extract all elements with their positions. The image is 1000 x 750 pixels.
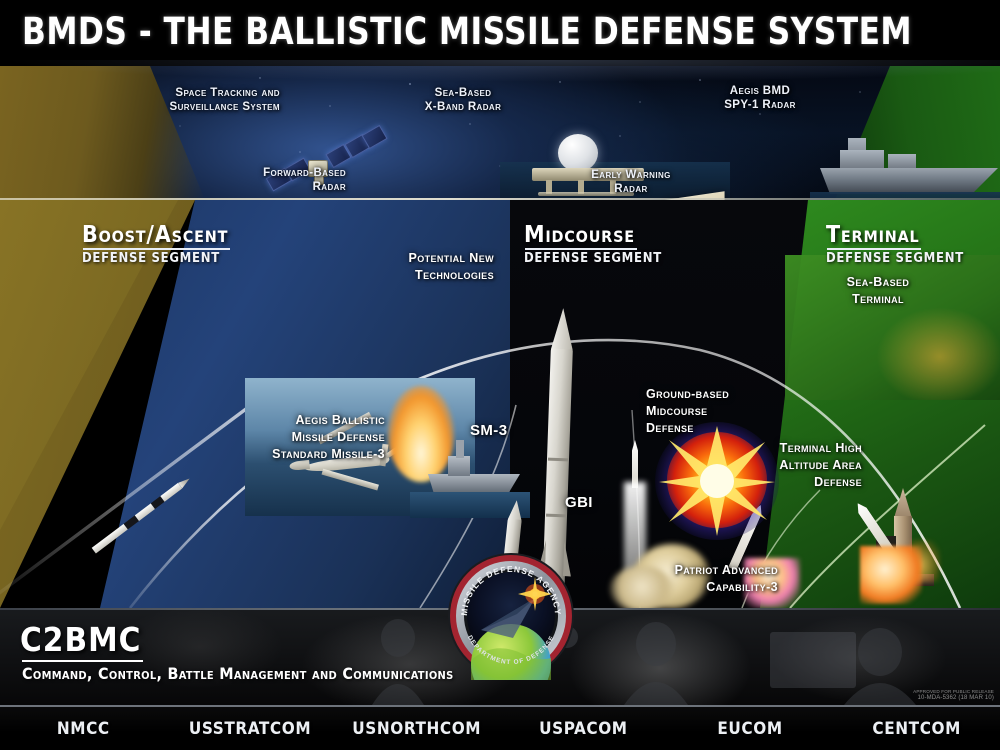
segment-title-boost: Boost/Ascent [82, 222, 228, 248]
command-nmcc[interactable]: NMCC [0, 719, 167, 739]
ship-icon [820, 136, 998, 200]
system-label-sm3: SM-3 [470, 422, 530, 439]
segment-subtitle-midcourse: DEFENSE SEGMENT [524, 251, 662, 266]
sensor-label-ewr: Early Warning Radar [556, 168, 706, 196]
system-label-gbi: GBI [565, 494, 625, 511]
aegis-ship-photo [370, 388, 520, 518]
command-usstratcom[interactable]: USSTRATCOM [167, 719, 334, 739]
segment-header-terminal: Terminal DEFENSE SEGMENT [826, 222, 964, 266]
c2bmc-expansion: Command, Control, Battle Management and … [22, 664, 454, 683]
system-label-thaad: Terminal High Altitude Area Defense [740, 440, 862, 491]
sensor-label-fbr: Forward-Based Radar [186, 166, 346, 194]
segment-subtitle-terminal: DEFENSE SEGMENT [826, 251, 964, 266]
page-title: BMDS - THE BALLISTIC MISSILE DEFENSE SYS… [22, 10, 912, 53]
system-label-aegis-bmd-sm3: Aegis Ballistic Missile Defense Standard… [220, 412, 385, 463]
segment-header-boost: Boost/Ascent DEFENSE SEGMENT [82, 222, 228, 266]
thaad-interceptor-icon [832, 498, 942, 608]
system-label-potential-new-technologies: Potential New Technologies [338, 250, 494, 284]
segment-header-midcourse: Midcourse DEFENSE SEGMENT [524, 222, 662, 266]
system-label-pac3: Patriot Advanced Capability-3 [628, 562, 778, 596]
launch-plume [388, 386, 454, 482]
segment-title-midcourse: Midcourse [524, 222, 635, 248]
sensor-label-stss: Space Tracking and Surveillance System [100, 86, 280, 114]
c2bmc-acronym: C2BMC [20, 620, 141, 659]
bmds-poster: BMDS - THE BALLISTIC MISSILE DEFENSE SYS… [0, 0, 1000, 750]
sensors-band: SENSORS Space Tracking and Surveillance … [0, 66, 1000, 200]
command-centcom[interactable]: CENTCOM [833, 719, 1000, 739]
public-release-stamp: APPROVED FOR PUBLIC RELEASE 10-MDA-5362 … [913, 689, 994, 701]
mda-seal: MISSILE DEFENSE AGENCY DEPARTMENT OF DEF… [447, 552, 575, 680]
defense-segments-region: Boost/Ascent DEFENSE SEGMENT Midcourse D… [0, 200, 1000, 608]
command-eucom[interactable]: EUCOM [667, 719, 834, 739]
combatant-command-bar: NMCC USSTRATCOM USNORTHCOM USPACOM EUCOM… [0, 705, 1000, 750]
system-label-gmd: Ground-based Midcourse Defense [646, 386, 796, 437]
command-uspacom[interactable]: USPACOM [500, 719, 667, 739]
command-usnorthcom[interactable]: USNORTHCOM [333, 719, 500, 739]
sensors-divider [0, 198, 1000, 200]
segment-title-terminal: Terminal [826, 222, 919, 248]
sensor-label-sbx: Sea-Based X-Band Radar [398, 86, 528, 114]
sensor-label-aegis-spy1: Aegis BMD SPY-1 Radar [690, 84, 830, 112]
poster-title-bar: BMDS - THE BALLISTIC MISSILE DEFENSE SYS… [0, 0, 1000, 66]
segment-subtitle-boost: DEFENSE SEGMENT [82, 251, 228, 266]
system-label-sea-based-terminal: Sea-Based Terminal [818, 274, 938, 308]
